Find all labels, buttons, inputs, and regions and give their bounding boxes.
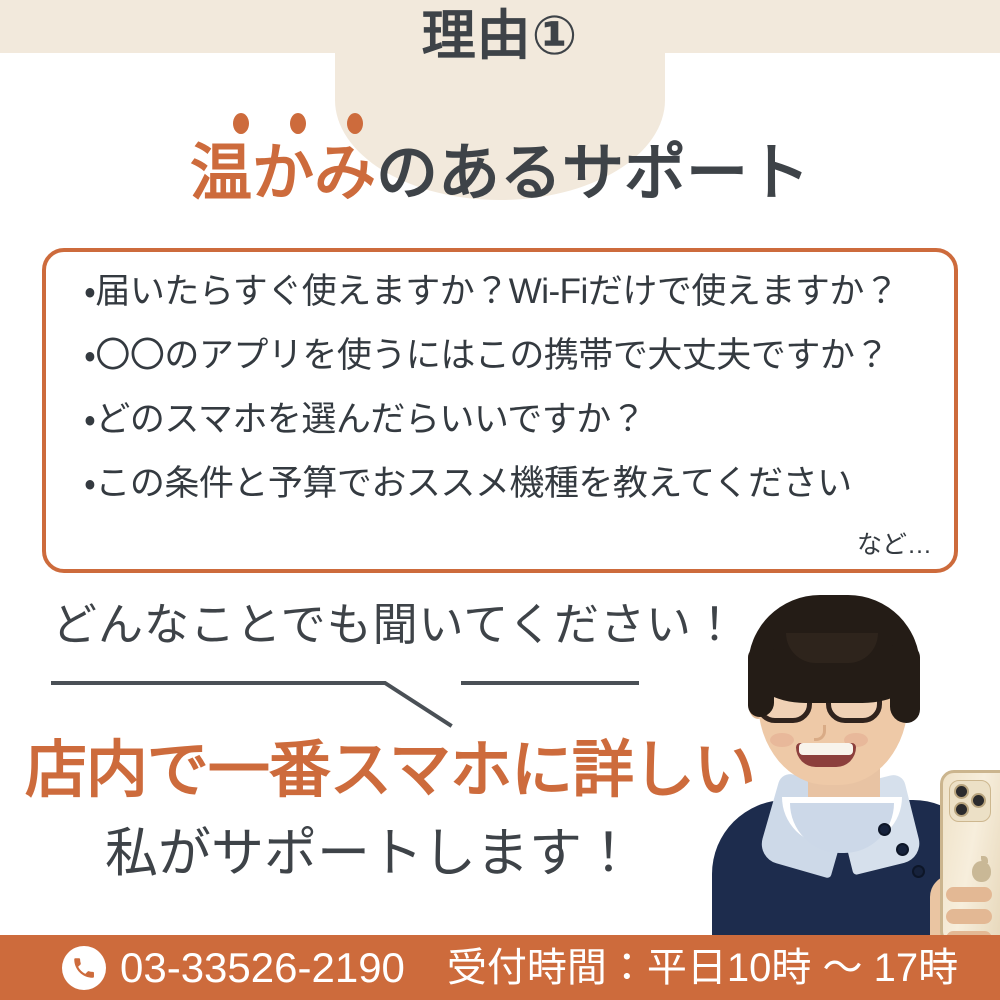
emphasis-dots bbox=[228, 113, 378, 139]
contact-footer-bar: 03-33526-2190 受付時間：平日10時 〜 17時 bbox=[0, 935, 1000, 1000]
list-item: ・この条件と予算でおススメ機種を教えてください bbox=[84, 466, 934, 501]
emphasis-dot bbox=[290, 113, 306, 134]
sweater-button bbox=[878, 823, 891, 836]
apple-logo-icon bbox=[972, 861, 991, 882]
poster-canvas: 理由① 温かみのあるサポート ・届いたらすぐ使えますか？Wi-Fiだけで使えます… bbox=[0, 0, 1000, 1000]
headline-accent: 温かみ bbox=[190, 139, 376, 208]
sweater-button bbox=[896, 843, 909, 856]
teeth bbox=[799, 743, 853, 755]
speech-text: どんなことでも聞いてください！ bbox=[52, 600, 738, 650]
phone-icon[interactable] bbox=[62, 946, 106, 990]
list-item: ・届いたらすぐ使えますか？Wi-Fiだけで使えますか？ bbox=[84, 274, 934, 309]
emphasis-dot bbox=[233, 113, 249, 134]
cheek-left bbox=[770, 733, 794, 747]
question-box-note: など… bbox=[857, 525, 932, 561]
list-item: ・〇〇のアプリを使うにはこの携帯で大丈夫ですか？ bbox=[84, 338, 934, 373]
headline-rest: のあるサポート bbox=[376, 139, 810, 208]
footer-content: 03-33526-2190 受付時間：平日10時 〜 17時 bbox=[0, 946, 1000, 990]
headline: 温かみのあるサポート bbox=[0, 140, 1000, 208]
camera-lens bbox=[954, 802, 969, 817]
claim-headline: 店内で一番スマホに詳しい bbox=[20, 738, 760, 803]
camera-module bbox=[949, 780, 991, 822]
smiling-mouth bbox=[796, 743, 856, 767]
question-box: ・届いたらすぐ使えますか？Wi-Fiだけで使えますか？ ・〇〇のアプリを使うには… bbox=[42, 248, 958, 573]
camera-lens bbox=[954, 784, 969, 799]
camera-lens bbox=[971, 793, 986, 808]
finger bbox=[946, 887, 992, 902]
sweater-button bbox=[912, 865, 925, 878]
finger bbox=[946, 909, 992, 924]
claim-subheadline: 私がサポートします！ bbox=[20, 825, 720, 883]
phone-number[interactable]: 03-33526-2190 bbox=[120, 947, 405, 989]
reason-badge-label: 理由① bbox=[0, 8, 1000, 65]
question-list: ・届いたらすぐ使えますか？Wi-Fiだけで使えますか？ ・〇〇のアプリを使うには… bbox=[84, 274, 934, 530]
emphasis-dot bbox=[347, 113, 363, 134]
list-item: ・どのスマホを選んだらいいですか？ bbox=[84, 402, 934, 437]
speech-bubble-tail-icon bbox=[45, 665, 645, 730]
hair-side-left bbox=[748, 647, 774, 717]
business-hours: 受付時間：平日10時 〜 17時 bbox=[447, 948, 958, 988]
hair-side-right bbox=[890, 645, 920, 723]
